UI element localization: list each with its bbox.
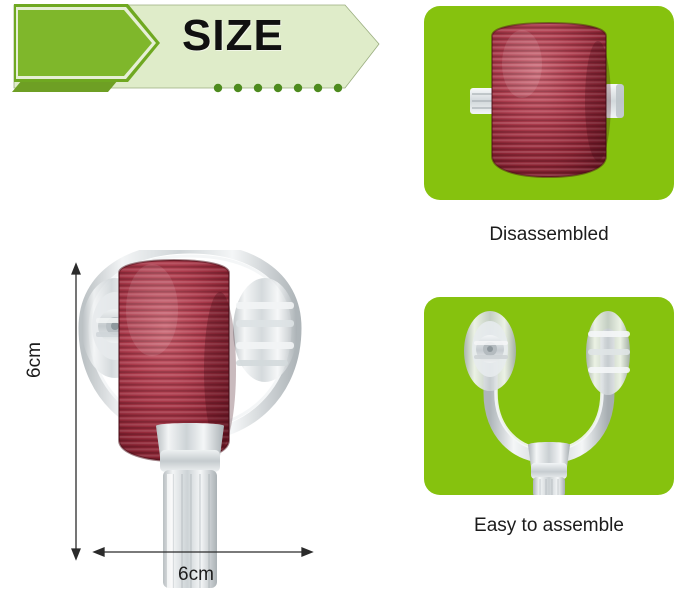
- disassembled-graphic: [424, 6, 674, 200]
- banner-green-arrow-fill: [18, 10, 152, 76]
- vertical-arrow-top: [72, 264, 80, 274]
- banner-dot: [254, 84, 262, 92]
- horizontal-arrow-right: [302, 548, 312, 556]
- red-ball-head: [484, 16, 614, 186]
- horizontal-arrow-left: [94, 548, 104, 556]
- left-connector-peg: [470, 88, 494, 114]
- right-pivot: [233, 278, 297, 382]
- size-banner: SIZE: [0, 0, 400, 110]
- banner-dot: [294, 84, 302, 92]
- card-easy-to-assemble-caption: Easy to assemble: [424, 515, 674, 537]
- vertical-arrow-bottom: [72, 549, 80, 559]
- banner-dot: [214, 84, 222, 92]
- card-easy-to-assemble: Easy to assemble: [424, 297, 674, 537]
- banner-dot: [234, 84, 242, 92]
- banner-dot: [274, 84, 282, 92]
- banner-dot: [314, 84, 322, 92]
- card-disassembled-caption: Disassembled: [424, 224, 674, 246]
- card-easy-to-assemble-panel: [424, 297, 674, 495]
- card-disassembled-panel: [424, 6, 674, 200]
- card-disassembled: Disassembled: [424, 6, 674, 256]
- right-arm-pivot: [586, 311, 630, 395]
- banner-title: SIZE: [182, 14, 284, 58]
- main-product-shot: [20, 250, 360, 589]
- left-arm-pivot: [464, 311, 516, 391]
- main-product-graphic: [20, 250, 360, 589]
- easy-to-assemble-graphic: [424, 297, 674, 495]
- handle: [528, 442, 570, 495]
- width-dimension-label: 6cm: [178, 564, 214, 586]
- height-dimension-label: 6cm: [24, 342, 46, 378]
- page-root: SIZE: [0, 0, 679, 589]
- banner-dot: [334, 84, 342, 92]
